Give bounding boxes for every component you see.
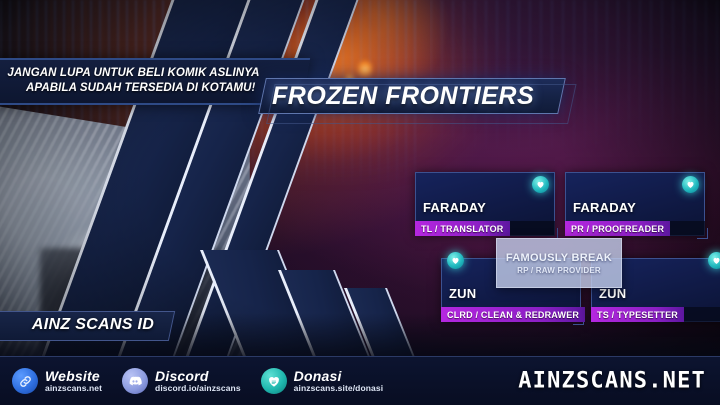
overlay-name: FAMOUSLY BREAK <box>506 252 612 264</box>
footer-link-url: discord.io/ainzscans <box>155 384 241 393</box>
credit-card: FARADAY PR / PROOFREADER <box>565 172 705 236</box>
series-title: FROZEN FRONTIERS <box>272 82 552 110</box>
link-icon <box>12 368 38 394</box>
credit-role-badge: PR / PROOFREADER <box>565 221 670 236</box>
heart-icon <box>708 252 720 269</box>
notice-line-1: JANGAN LUPA UNTUK BELI KOMIK ASLINYA <box>7 66 297 81</box>
footer-links: Website ainzscans.net Discord discord.io… <box>0 368 383 394</box>
footer-link-discord[interactable]: Discord discord.io/ainzscans <box>122 368 241 394</box>
credit-name: ZUN <box>599 286 626 301</box>
heart-icon <box>532 176 549 193</box>
credit-name: FARADAY <box>423 200 486 215</box>
heart-icon <box>682 176 699 193</box>
site-brand: AINZSCANS.NET <box>518 369 706 394</box>
footer-link-label: Discord <box>155 369 241 384</box>
credit-card: FARADAY TL / TRANSLATOR <box>415 172 555 236</box>
credit-role-badge: TS / TYPESETTER <box>591 307 684 322</box>
credit-role-badge: TL / TRANSLATOR <box>415 221 510 236</box>
footer-link-label: Website <box>45 369 102 384</box>
donate-heart-hand-icon <box>261 368 287 394</box>
raw-provider-overlay: FAMOUSLY BREAK RP / RAW PROVIDER <box>496 238 622 288</box>
notice-line-2: APABILA SUDAH TERSEDIA DI KOTAMU! <box>5 81 295 96</box>
heart-icon <box>447 252 464 269</box>
footer-link-url: ainzscans.site/donasi <box>294 384 384 393</box>
overlay-role: RP / RAW PROVIDER <box>517 266 601 275</box>
credits-page: JANGAN LUPA UNTUK BELI KOMIK ASLINYA APA… <box>0 0 720 405</box>
footer-link-label: Donasi <box>294 369 384 384</box>
credit-role-badge: CLRD / CLEAN & REDRAWER <box>441 307 585 322</box>
credit-name: ZUN <box>449 286 476 301</box>
credit-name: FARADAY <box>573 200 636 215</box>
footer-bar: Website ainzscans.net Discord discord.io… <box>0 356 720 405</box>
footer-link-donasi[interactable]: Donasi ainzscans.site/donasi <box>261 368 384 394</box>
discord-icon <box>122 368 148 394</box>
scanlation-name: AINZ SCANS ID <box>8 313 178 337</box>
footer-link-url: ainzscans.net <box>45 384 102 393</box>
footer-link-website[interactable]: Website ainzscans.net <box>12 368 102 394</box>
